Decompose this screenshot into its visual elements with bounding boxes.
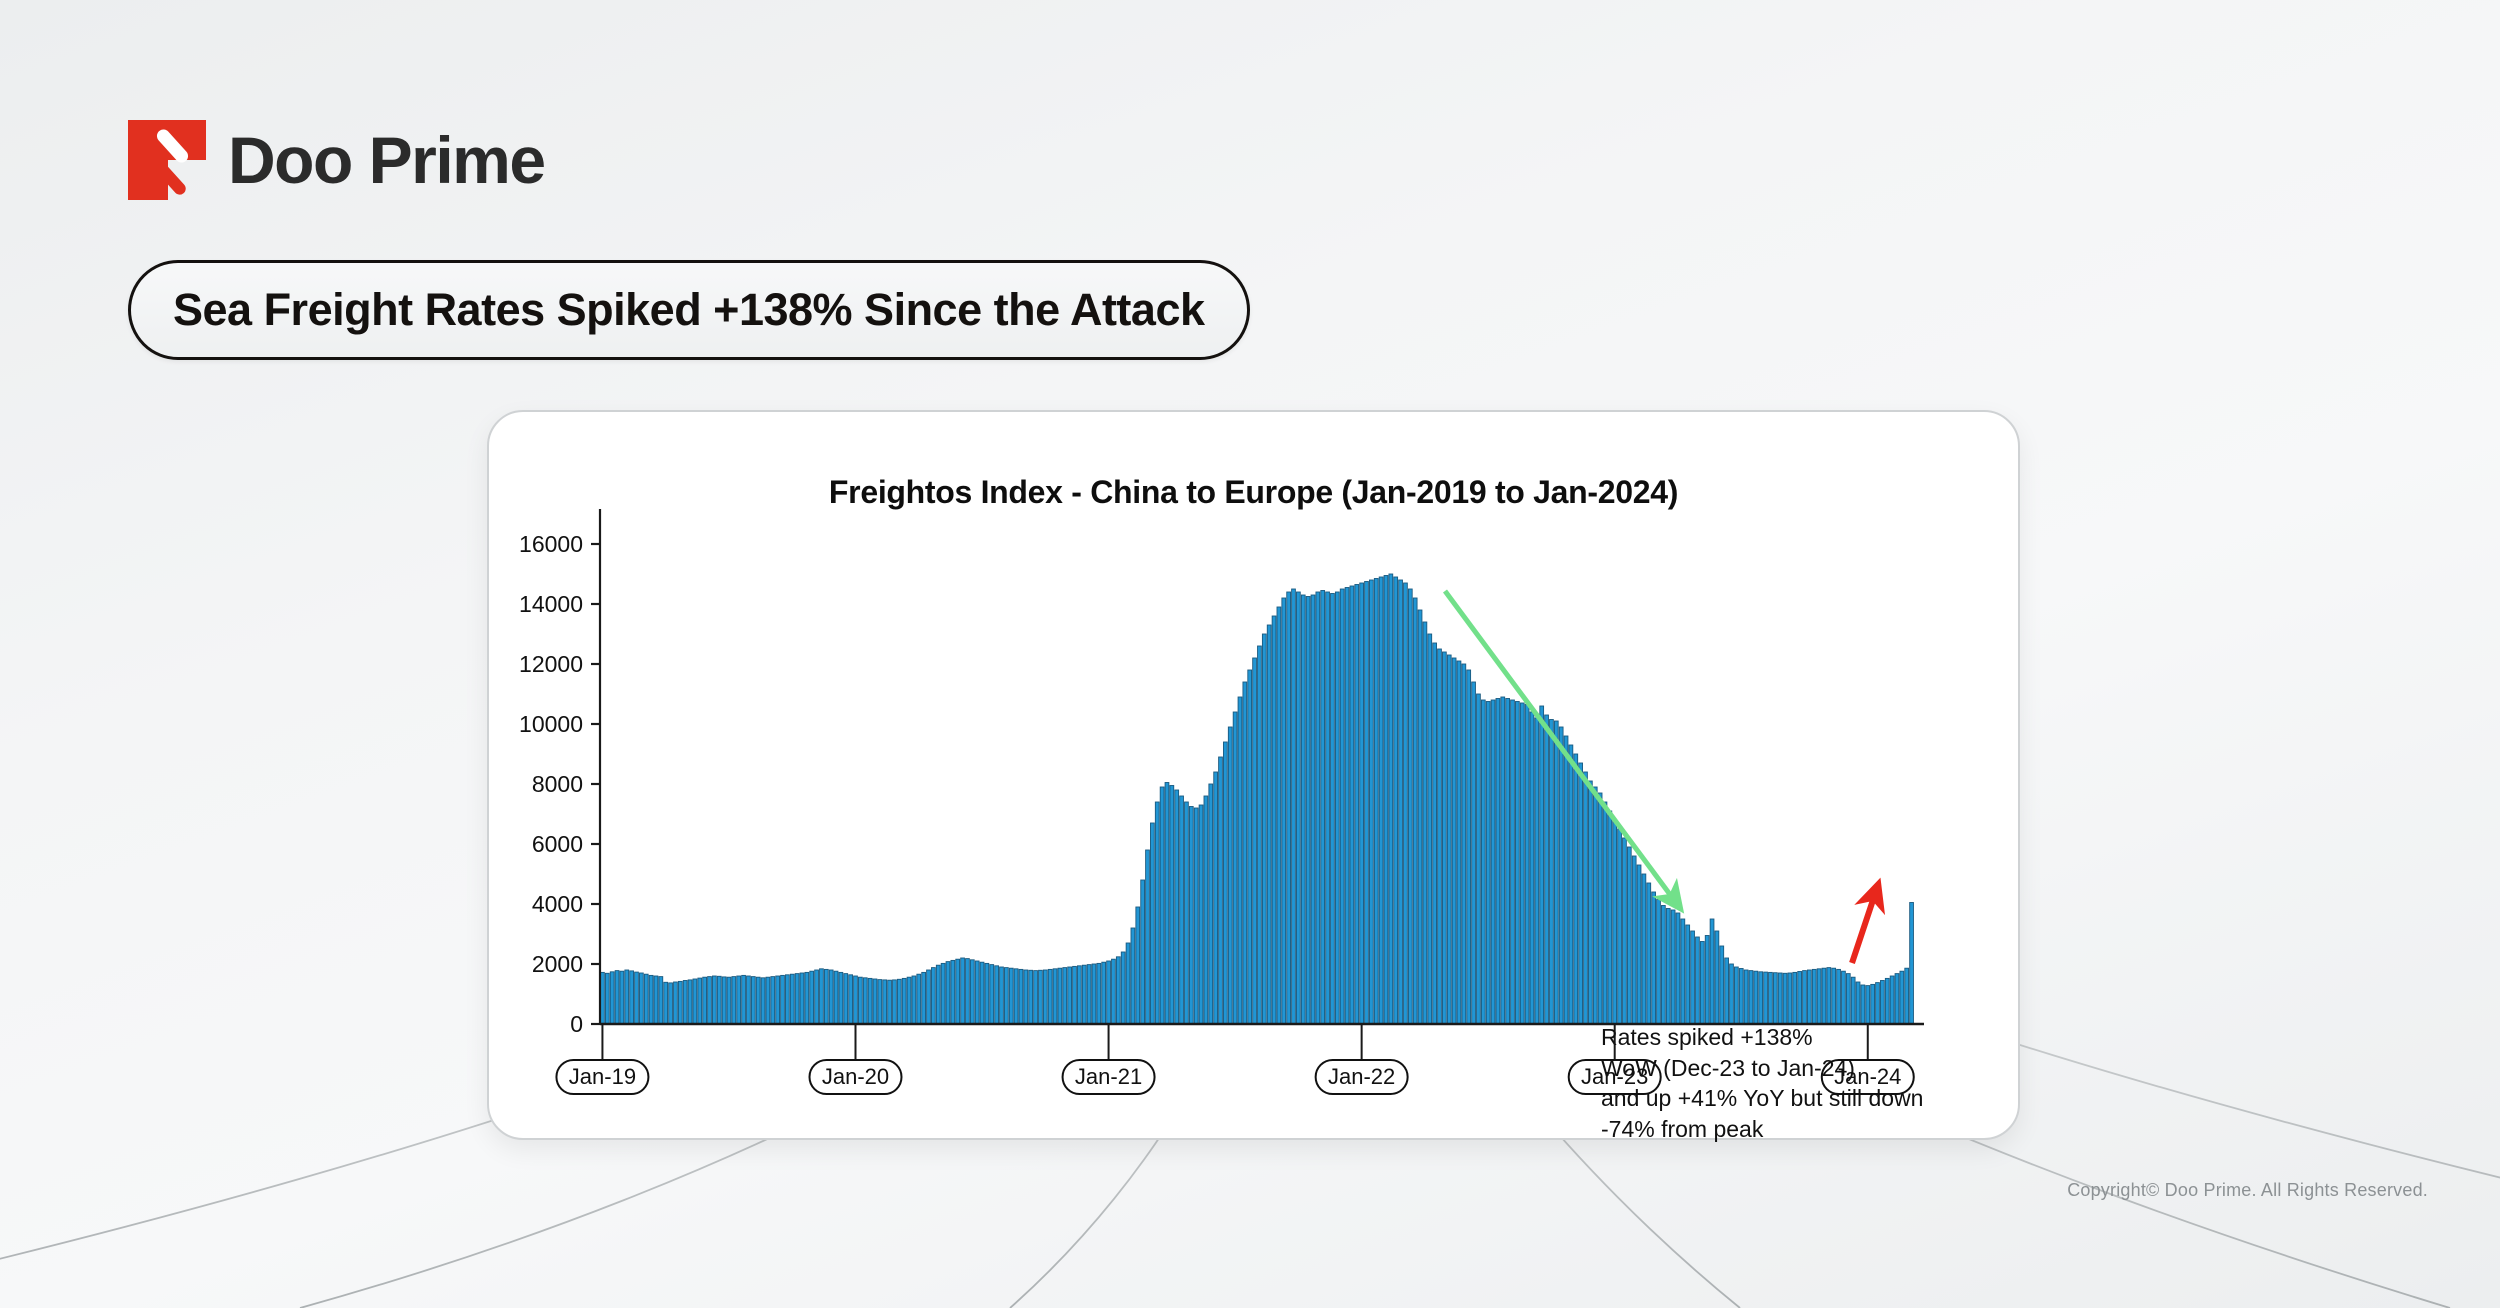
bar [795, 974, 799, 1024]
bar [771, 977, 775, 1024]
bar [897, 979, 901, 1024]
bar [698, 978, 702, 1024]
bar [1053, 969, 1057, 1024]
bar [1627, 847, 1631, 1024]
bar [1000, 967, 1004, 1024]
chart-card: Freightos Index - China to Europe (Jan-2… [487, 410, 2020, 1140]
doo-prime-logo-mark-icon [128, 120, 206, 200]
bar [1803, 971, 1807, 1024]
headline-text: Sea Freight Rates Spiked +138% Since the… [173, 284, 1205, 336]
bar [1141, 880, 1145, 1024]
bar [1185, 802, 1189, 1024]
bar [1253, 658, 1257, 1024]
bar [737, 976, 741, 1024]
bar [790, 974, 794, 1024]
bar [1316, 592, 1320, 1024]
bar [1112, 959, 1116, 1024]
bar [1452, 658, 1456, 1024]
bar [1632, 856, 1636, 1024]
bar [601, 972, 605, 1024]
bar [1710, 919, 1714, 1024]
bar [1486, 702, 1490, 1025]
bar [1258, 646, 1262, 1024]
bar [693, 979, 697, 1024]
bar [1545, 715, 1549, 1024]
bar [1618, 829, 1622, 1024]
bar [893, 980, 897, 1024]
bar [820, 969, 824, 1024]
bar [863, 978, 867, 1024]
bar [1637, 865, 1641, 1024]
y-tick-label: 6000 [532, 831, 583, 857]
bar [625, 970, 629, 1024]
bar [1720, 946, 1724, 1024]
bar [1642, 874, 1646, 1024]
bar [1136, 907, 1140, 1024]
bar [1131, 928, 1135, 1024]
bar [1097, 963, 1101, 1024]
bar [1102, 962, 1106, 1024]
bar [844, 974, 848, 1024]
bar [1739, 969, 1743, 1025]
bar [1267, 625, 1271, 1024]
bar [1652, 892, 1656, 1024]
bar [688, 980, 692, 1024]
bar [1467, 670, 1471, 1024]
bar [1598, 793, 1602, 1024]
bar [1116, 957, 1120, 1024]
bar [1657, 900, 1661, 1025]
brand-lockup: Doo Prime [128, 120, 545, 200]
bar [946, 962, 950, 1024]
bar [1340, 589, 1344, 1024]
y-tick-label: 16000 [519, 531, 583, 557]
y-tick-label: 12000 [519, 651, 583, 677]
bar [1817, 969, 1821, 1024]
bar [990, 965, 994, 1024]
x-tick-label: Jan-21 [1075, 1064, 1142, 1089]
bar [1472, 682, 1476, 1024]
bar [1778, 973, 1782, 1024]
bar [1744, 970, 1748, 1024]
bar [858, 977, 862, 1024]
bar [722, 977, 726, 1024]
bar [936, 965, 940, 1024]
bar [1661, 906, 1665, 1025]
bar [1827, 968, 1831, 1024]
bar [1233, 712, 1237, 1024]
bar [1029, 970, 1033, 1024]
bar [815, 970, 819, 1024]
bar [1087, 965, 1091, 1024]
bar [1623, 838, 1627, 1024]
bar [966, 959, 970, 1024]
bar [1321, 591, 1325, 1025]
bar [1559, 727, 1563, 1024]
bar [1355, 585, 1359, 1025]
copyright-text: Copyright© Doo Prime. All Rights Reserve… [2067, 1180, 2428, 1201]
bar [766, 977, 770, 1024]
bar [1574, 754, 1578, 1024]
bar [1379, 577, 1383, 1024]
bar [1009, 968, 1013, 1024]
bar-series [601, 574, 1914, 1024]
bar [717, 976, 721, 1024]
bar [970, 960, 974, 1024]
bar [610, 972, 614, 1024]
bar [776, 976, 780, 1024]
bar [868, 978, 872, 1024]
bar [1734, 967, 1738, 1024]
x-tick-label: Jan-20 [822, 1064, 889, 1089]
bar [834, 971, 838, 1024]
annotation-text: Rates spiked +138% WoW (Dec-23 to Jan-24… [1601, 1022, 1923, 1144]
bar [1447, 655, 1451, 1024]
bar [824, 969, 828, 1024]
bar [1077, 966, 1081, 1024]
bar [1880, 981, 1884, 1025]
bar [664, 982, 668, 1024]
bar [1876, 983, 1880, 1024]
bar [1374, 579, 1378, 1025]
bar [1189, 807, 1193, 1025]
bar [1146, 850, 1150, 1024]
bar [849, 975, 853, 1024]
bar [1812, 969, 1816, 1024]
bar [1584, 772, 1588, 1024]
bar [1048, 969, 1052, 1024]
bar [1866, 986, 1870, 1024]
bar [917, 974, 921, 1024]
bar [1408, 589, 1412, 1024]
bar [1696, 937, 1700, 1024]
bar [1477, 694, 1481, 1024]
bar [975, 961, 979, 1024]
bar [1705, 936, 1709, 1025]
bar [1783, 973, 1787, 1024]
bar [912, 976, 916, 1024]
bar [781, 975, 785, 1024]
bar [1160, 787, 1164, 1024]
headline-pill: Sea Freight Rates Spiked +138% Since the… [128, 260, 1250, 360]
bar [956, 959, 960, 1024]
bar [1515, 702, 1519, 1025]
bar [1287, 592, 1291, 1024]
bar [1442, 652, 1446, 1024]
bar [1681, 919, 1685, 1024]
bar [1418, 610, 1422, 1024]
bar [902, 978, 906, 1024]
bar [1043, 970, 1047, 1024]
bar [888, 980, 892, 1024]
bar [1262, 634, 1266, 1024]
bar [1238, 697, 1242, 1024]
bar [742, 975, 746, 1024]
bar [873, 979, 877, 1024]
bar [1851, 977, 1855, 1024]
bar [1223, 742, 1227, 1024]
y-axis: 0200040006000800010000120001400016000 [519, 509, 600, 1037]
bar [732, 977, 736, 1024]
bar [649, 975, 653, 1024]
bar [878, 980, 882, 1024]
bar [1014, 969, 1018, 1024]
bar [854, 976, 858, 1024]
bar [1150, 823, 1154, 1024]
bar [1769, 972, 1773, 1024]
bar [1676, 913, 1680, 1024]
bar [800, 973, 804, 1024]
bar [1350, 586, 1354, 1024]
bar [1520, 703, 1524, 1024]
bar [1360, 583, 1364, 1024]
bar [1004, 968, 1008, 1024]
bar [1856, 982, 1860, 1024]
bar [1019, 969, 1023, 1024]
bar [1540, 706, 1544, 1024]
bar [654, 976, 658, 1024]
bar [1491, 700, 1495, 1024]
bar [659, 977, 663, 1024]
bar [1423, 622, 1427, 1024]
bar [1175, 790, 1179, 1024]
bar [1793, 972, 1797, 1024]
bar [1588, 781, 1592, 1024]
bar [1773, 973, 1777, 1024]
bar [1024, 970, 1028, 1024]
bar [1073, 966, 1077, 1024]
bar [1404, 583, 1408, 1024]
bar [1126, 943, 1130, 1024]
bar [1895, 974, 1899, 1024]
bar [756, 977, 760, 1024]
bar [1034, 971, 1038, 1024]
bar [1686, 925, 1690, 1024]
y-tick-label: 2000 [532, 951, 583, 977]
bar [1550, 720, 1554, 1025]
bar [785, 975, 789, 1024]
y-tick-label: 4000 [532, 891, 583, 917]
bar [1384, 576, 1388, 1025]
bar [1209, 784, 1213, 1024]
bar [1798, 972, 1802, 1025]
bar [708, 977, 712, 1024]
bar [1462, 664, 1466, 1024]
bar [1433, 643, 1437, 1024]
y-tick-label: 10000 [519, 711, 583, 737]
bar [1700, 942, 1704, 1025]
bar [630, 971, 634, 1024]
bar [674, 982, 678, 1024]
bar [1861, 985, 1865, 1024]
bar [1564, 736, 1568, 1024]
bar [1579, 763, 1583, 1024]
bar [1180, 796, 1184, 1024]
bar [961, 958, 965, 1024]
bar [1554, 721, 1558, 1024]
bar [1671, 910, 1675, 1024]
bar [1306, 597, 1310, 1025]
bar [1506, 699, 1510, 1025]
bar [995, 966, 999, 1024]
bar [985, 963, 989, 1024]
bar [1272, 616, 1276, 1024]
bar [1647, 883, 1651, 1024]
bar [980, 962, 984, 1024]
bar [1204, 796, 1208, 1024]
bar [1511, 700, 1515, 1024]
bar [1039, 970, 1043, 1024]
bar [703, 977, 707, 1024]
bar [1530, 712, 1534, 1024]
bar [1326, 592, 1330, 1024]
y-tick-label: 0 [570, 1011, 583, 1037]
bar [1199, 805, 1203, 1024]
bar [644, 974, 648, 1024]
bar [1063, 968, 1067, 1024]
bar [1749, 971, 1753, 1024]
bar [1399, 580, 1403, 1024]
bar [1389, 574, 1393, 1024]
bar [1715, 931, 1719, 1024]
bar [1691, 931, 1695, 1024]
bar [883, 980, 887, 1024]
bar [1082, 965, 1086, 1024]
bar [1301, 595, 1305, 1024]
bar [1900, 971, 1904, 1024]
brand-name: Doo Prime [228, 127, 545, 193]
bar [1296, 592, 1300, 1024]
bar [1457, 661, 1461, 1024]
bar [1331, 594, 1335, 1025]
bar [1228, 727, 1232, 1024]
bar [1365, 582, 1369, 1025]
bar [1277, 607, 1281, 1024]
bar [712, 976, 716, 1024]
bar [1501, 697, 1505, 1024]
bar [1842, 971, 1846, 1024]
bar [1481, 700, 1485, 1024]
bar [1282, 598, 1286, 1024]
bar [1871, 984, 1875, 1024]
bar [1788, 973, 1792, 1024]
bar [1822, 968, 1826, 1024]
bar [615, 971, 619, 1024]
x-tick-label: Jan-19 [569, 1064, 636, 1089]
x-tick-label: Jan-22 [1328, 1064, 1395, 1089]
bar [1170, 786, 1174, 1025]
bar [1666, 909, 1670, 1025]
bar [1496, 699, 1500, 1025]
bar [1369, 580, 1373, 1024]
bar [805, 972, 809, 1024]
bar [635, 972, 639, 1024]
y-tick-label: 14000 [519, 591, 583, 617]
bar [1438, 649, 1442, 1024]
bar [1092, 964, 1096, 1024]
bar [1910, 903, 1914, 1025]
bar [605, 973, 609, 1024]
bar [1214, 772, 1218, 1024]
bar [747, 976, 751, 1024]
bar [1165, 783, 1169, 1025]
bar [727, 977, 731, 1024]
bar [1764, 972, 1768, 1024]
bar [1832, 968, 1836, 1024]
bar [941, 963, 945, 1024]
bar [1613, 820, 1617, 1024]
bar [669, 983, 673, 1024]
bar [927, 970, 931, 1024]
bar [1603, 802, 1607, 1024]
bar [1890, 976, 1894, 1024]
bar [1394, 577, 1398, 1024]
bar [1219, 757, 1223, 1024]
bar [1593, 787, 1597, 1024]
bar [751, 977, 755, 1024]
bar [1194, 808, 1198, 1024]
bar [1754, 971, 1758, 1024]
bar [1107, 961, 1111, 1024]
bar [1155, 802, 1159, 1024]
bar [1885, 978, 1889, 1024]
bar [1335, 592, 1339, 1024]
bar [1428, 634, 1432, 1024]
bar [620, 971, 624, 1024]
bar [678, 981, 682, 1024]
bar [931, 968, 935, 1024]
bar [1121, 952, 1125, 1024]
bar [839, 972, 843, 1024]
bar [1525, 705, 1529, 1025]
bar [810, 971, 814, 1024]
bar [1311, 595, 1315, 1024]
bar [1837, 969, 1841, 1024]
bar [1535, 718, 1539, 1024]
bar [1292, 589, 1296, 1024]
bar [1058, 968, 1062, 1024]
bar [1759, 972, 1763, 1024]
bar [1068, 967, 1072, 1024]
bar [1807, 970, 1811, 1024]
bar [922, 972, 926, 1024]
bar [1569, 745, 1573, 1024]
bar [1248, 670, 1252, 1024]
bar [907, 977, 911, 1024]
red-spike-arrow-icon [1852, 885, 1878, 963]
bar [761, 978, 765, 1024]
bar [1730, 964, 1734, 1024]
bar [1345, 588, 1349, 1025]
bar [683, 981, 687, 1025]
bar [829, 970, 833, 1024]
bar [1725, 958, 1729, 1024]
bar [951, 960, 955, 1024]
bar [1243, 682, 1247, 1024]
y-tick-label: 8000 [532, 771, 583, 797]
bar [639, 973, 643, 1024]
bar [1905, 968, 1909, 1024]
bar [1846, 974, 1850, 1024]
bar [1608, 811, 1612, 1024]
bar [1413, 598, 1417, 1024]
